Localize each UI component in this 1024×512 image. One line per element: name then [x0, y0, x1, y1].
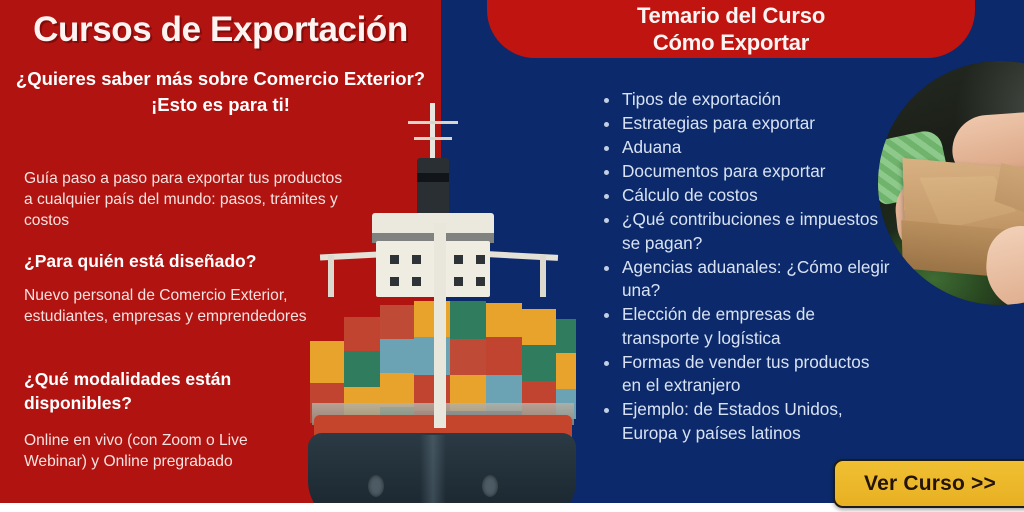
ver-curso-button-label: Ver Curso >> [835, 472, 1024, 496]
list-item: Tipos de exportación [600, 88, 890, 112]
list-item: ¿Qué contribuciones e impuestos se pagan… [600, 208, 890, 255]
list-item: Ejemplo: de Estados Unidos, Europa y paí… [600, 398, 890, 445]
answer-audience: Nuevo personal de Comercio Exterior, est… [24, 285, 324, 327]
promo-banner: Cursos de Exportación ¿Quieres saber más… [0, 0, 1024, 512]
syllabus-title-line-2: Cómo Exportar [487, 29, 975, 56]
page-subtitle: ¿Quieres saber más sobre Comercio Exteri… [0, 66, 441, 118]
ver-curso-button[interactable]: Ver Curso >> [833, 459, 1024, 508]
list-item: Estrategias para exportar [600, 112, 890, 136]
syllabus-title-line-1: Temario del Curso [487, 2, 975, 29]
list-item: Documentos para exportar [600, 160, 890, 184]
answer-modalities: Online en vivo (con Zoom o Live Webinar)… [24, 430, 294, 472]
package-handover-photo [878, 61, 1024, 305]
subtitle-line-2: ¡Esto es para ti! [0, 92, 441, 118]
list-item: Elección de empresas de transporte y log… [600, 303, 890, 350]
topic-list: Tipos de exportación Estrategias para ex… [600, 88, 890, 446]
syllabus-banner-text: Temario del Curso Cómo Exportar [487, 2, 975, 56]
list-item: Aduana [600, 136, 890, 160]
question-audience: ¿Para quién está diseñado? [24, 249, 324, 273]
list-item: Agencias aduanales: ¿Cómo elegir una? [600, 256, 890, 303]
left-content: Cursos de Exportación ¿Quieres saber más… [0, 0, 441, 503]
subtitle-line-1: ¿Quieres saber más sobre Comercio Exteri… [0, 66, 441, 92]
intro-paragraph: Guía paso a paso para exportar tus produ… [24, 168, 344, 231]
list-item: Cálculo de costos [600, 184, 890, 208]
syllabus-banner: Temario del Curso Cómo Exportar [487, 0, 975, 58]
question-modalities: ¿Qué modalidades están disponibles? [24, 367, 274, 415]
page-title: Cursos de Exportación [0, 10, 441, 50]
list-item: Formas de vender tus productos en el ext… [600, 351, 890, 398]
